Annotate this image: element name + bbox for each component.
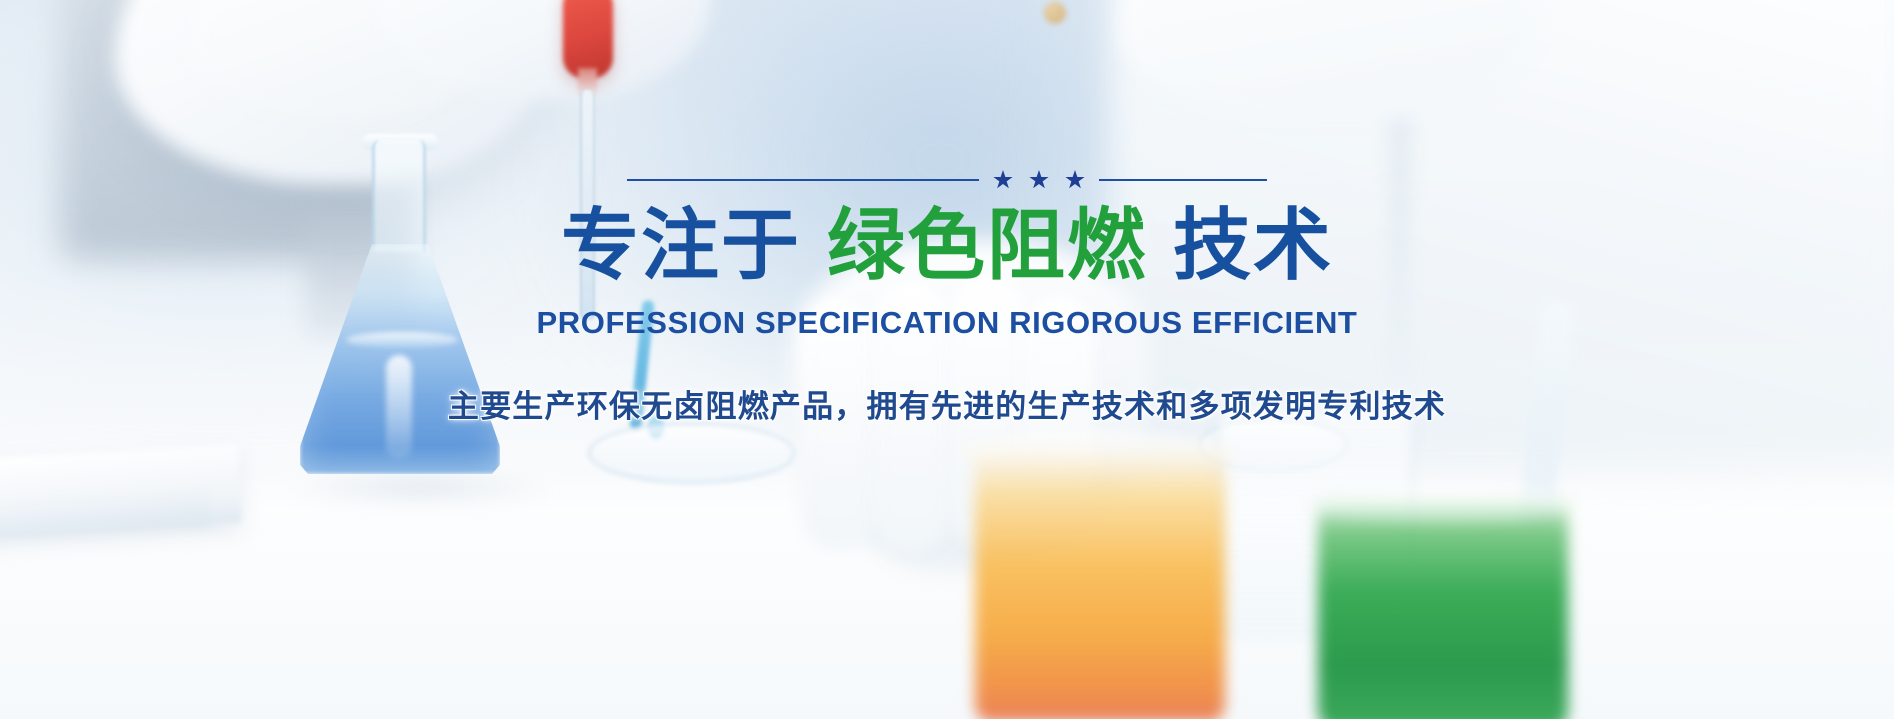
divider-stars bbox=[993, 170, 1085, 190]
hero-banner: 专注于 绿色阻燃 技术 PROFESSION SPECIFICATION RIG… bbox=[0, 0, 1894, 719]
headline-segment-1: 专注于 bbox=[561, 204, 801, 287]
banner-subtitle: PROFESSION SPECIFICATION RIGOROUS EFFICI… bbox=[537, 305, 1358, 341]
page-title: 专注于 绿色阻燃 技术 bbox=[561, 204, 1333, 287]
star-icon bbox=[1029, 170, 1049, 190]
star-icon bbox=[1065, 170, 1085, 190]
star-divider bbox=[627, 170, 1267, 190]
headline-segment-3: 技术 bbox=[1173, 204, 1333, 287]
banner-tagline: 主要生产环保无卤阻燃产品，拥有先进的生产技术和多项发明专利技术 bbox=[448, 381, 1446, 426]
headline-segment-2: 绿色阻燃 bbox=[827, 204, 1147, 287]
star-icon bbox=[993, 170, 1013, 190]
divider-rule-left bbox=[627, 179, 979, 181]
banner-content: 专注于 绿色阻燃 技术 PROFESSION SPECIFICATION RIG… bbox=[0, 0, 1894, 719]
divider-rule-right bbox=[1099, 179, 1267, 181]
